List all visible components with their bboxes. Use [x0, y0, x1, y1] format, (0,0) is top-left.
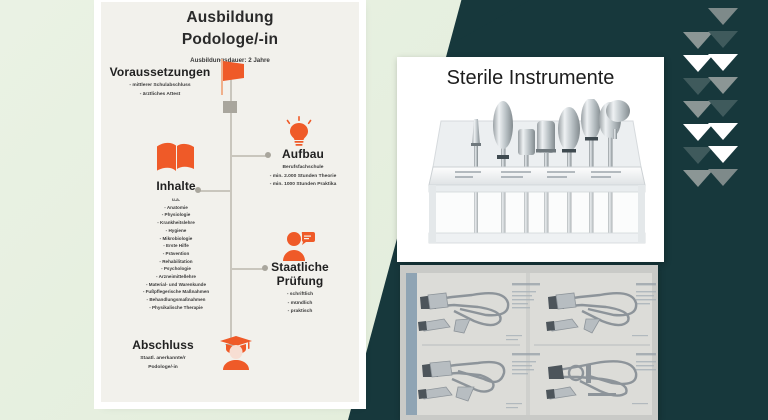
graduate-icon: [219, 335, 253, 371]
block-item: - Physikalische Therapie: [119, 304, 233, 312]
infographic-title: Ausbildung Podologe/-in: [101, 2, 359, 52]
decor-triangle: [708, 146, 738, 163]
block-item: Staatl. anerkannte/r: [109, 355, 217, 364]
block-heading-line2: Prüfung: [247, 274, 353, 288]
block-item: u.a.: [119, 196, 233, 204]
decor-triangle: [708, 31, 738, 48]
block-inhalte: Inhalte u.a. - Anatomie - Physiologie - …: [119, 179, 233, 312]
open-book-icon: [156, 142, 196, 172]
block-item: - Fußpflegerische Maßnahmen: [119, 288, 233, 296]
block-item: - mündlich: [247, 300, 353, 309]
block-items: Berufsfachschule - min. 2.000 Stunden Th…: [247, 164, 359, 190]
lightbulb-icon: [284, 116, 314, 148]
block-item: - Mikrobiologie: [119, 235, 233, 243]
block-voraussetzungen: Voraussetzungen - mittlerer Schulabschlu…: [105, 65, 215, 99]
block-item: - min. 2.000 Stunden Theorie: [247, 173, 359, 182]
block-item: - Krankheitslehre: [119, 219, 233, 227]
block-heading-line1: Staatliche: [247, 260, 353, 274]
block-heading: Inhalte: [119, 179, 233, 193]
block-item: Podologe/-in: [109, 364, 217, 373]
block-item: - schriftlich: [247, 291, 353, 300]
decor-triangle: [708, 77, 738, 94]
catalog-illustration: [400, 265, 658, 420]
block-item: - Prävention: [119, 250, 233, 258]
block-items: - schriftlich - mündlich - praktisch: [247, 291, 353, 317]
triangle-column-right: [708, 8, 738, 192]
decor-triangle: [708, 54, 738, 71]
block-item: - Erste Hilfe: [119, 242, 233, 250]
flag-icon: [213, 57, 247, 97]
block-item: - Psychologie: [119, 265, 233, 273]
decor-triangle: [708, 8, 738, 25]
block-items: Staatl. anerkannte/r Podologe/-in: [109, 355, 217, 372]
block-heading: Voraussetzungen: [105, 65, 215, 79]
block-item: - mittlerer Schulabschluss: [105, 82, 215, 91]
infographic-title-line2: Podologe/-in: [101, 29, 359, 51]
bur-stand-photo: [405, 99, 656, 255]
infographic-card: Ausbildung Podologe/-in Ausbildungsdauer…: [101, 2, 359, 402]
block-staatliche-pruefung: Staatliche Prüfung - schriftlich - mündl…: [247, 260, 353, 317]
block-item: - Behandlungsmaßnahmen: [119, 296, 233, 304]
decor-triangle: [708, 100, 738, 117]
block-items: - mittlerer Schulabschluss - ärztliches …: [105, 82, 215, 99]
slide-canvas: Ausbildung Podologe/-in Ausbildungsdauer…: [0, 0, 768, 420]
block-item: Berufsfachschule: [247, 164, 359, 173]
block-item: - Anatomie: [119, 204, 233, 212]
sterile-instruments-panel: Sterile Instrumente: [397, 57, 664, 262]
block-aufbau: Aufbau Berufsfachschule - min. 2.000 Stu…: [247, 147, 359, 190]
block-item: - ärztliches Attest: [105, 91, 215, 100]
block-item: - Rehabilitation: [119, 258, 233, 266]
block-items: u.a. - Anatomie - Physiologie - Krankhei…: [119, 196, 233, 312]
block-abschluss: Abschluss Staatl. anerkannte/r Podologe/…: [109, 338, 217, 372]
block-item: - Arzneimittellehre: [119, 273, 233, 281]
block-item: - praktisch: [247, 308, 353, 317]
instrument-catalog-photo: [400, 265, 658, 420]
block-item: - min. 1000 Stunden Praktika: [247, 181, 359, 190]
block-heading: Aufbau: [247, 147, 359, 161]
block-item: - Hygiene: [119, 227, 233, 235]
block-item: - Physiologie: [119, 211, 233, 219]
sterile-instruments-title: Sterile Instrumente: [397, 57, 664, 90]
speech-person-icon: [281, 230, 315, 262]
block-item: - Material- und Warenkunde: [119, 281, 233, 289]
block-heading: Abschluss: [109, 338, 217, 352]
infographic-title-line1: Ausbildung: [101, 7, 359, 29]
bur-stand-illustration: [405, 99, 656, 255]
timeline-marker: [223, 101, 237, 113]
decor-triangle: [708, 123, 738, 140]
decor-triangle: [708, 169, 738, 186]
